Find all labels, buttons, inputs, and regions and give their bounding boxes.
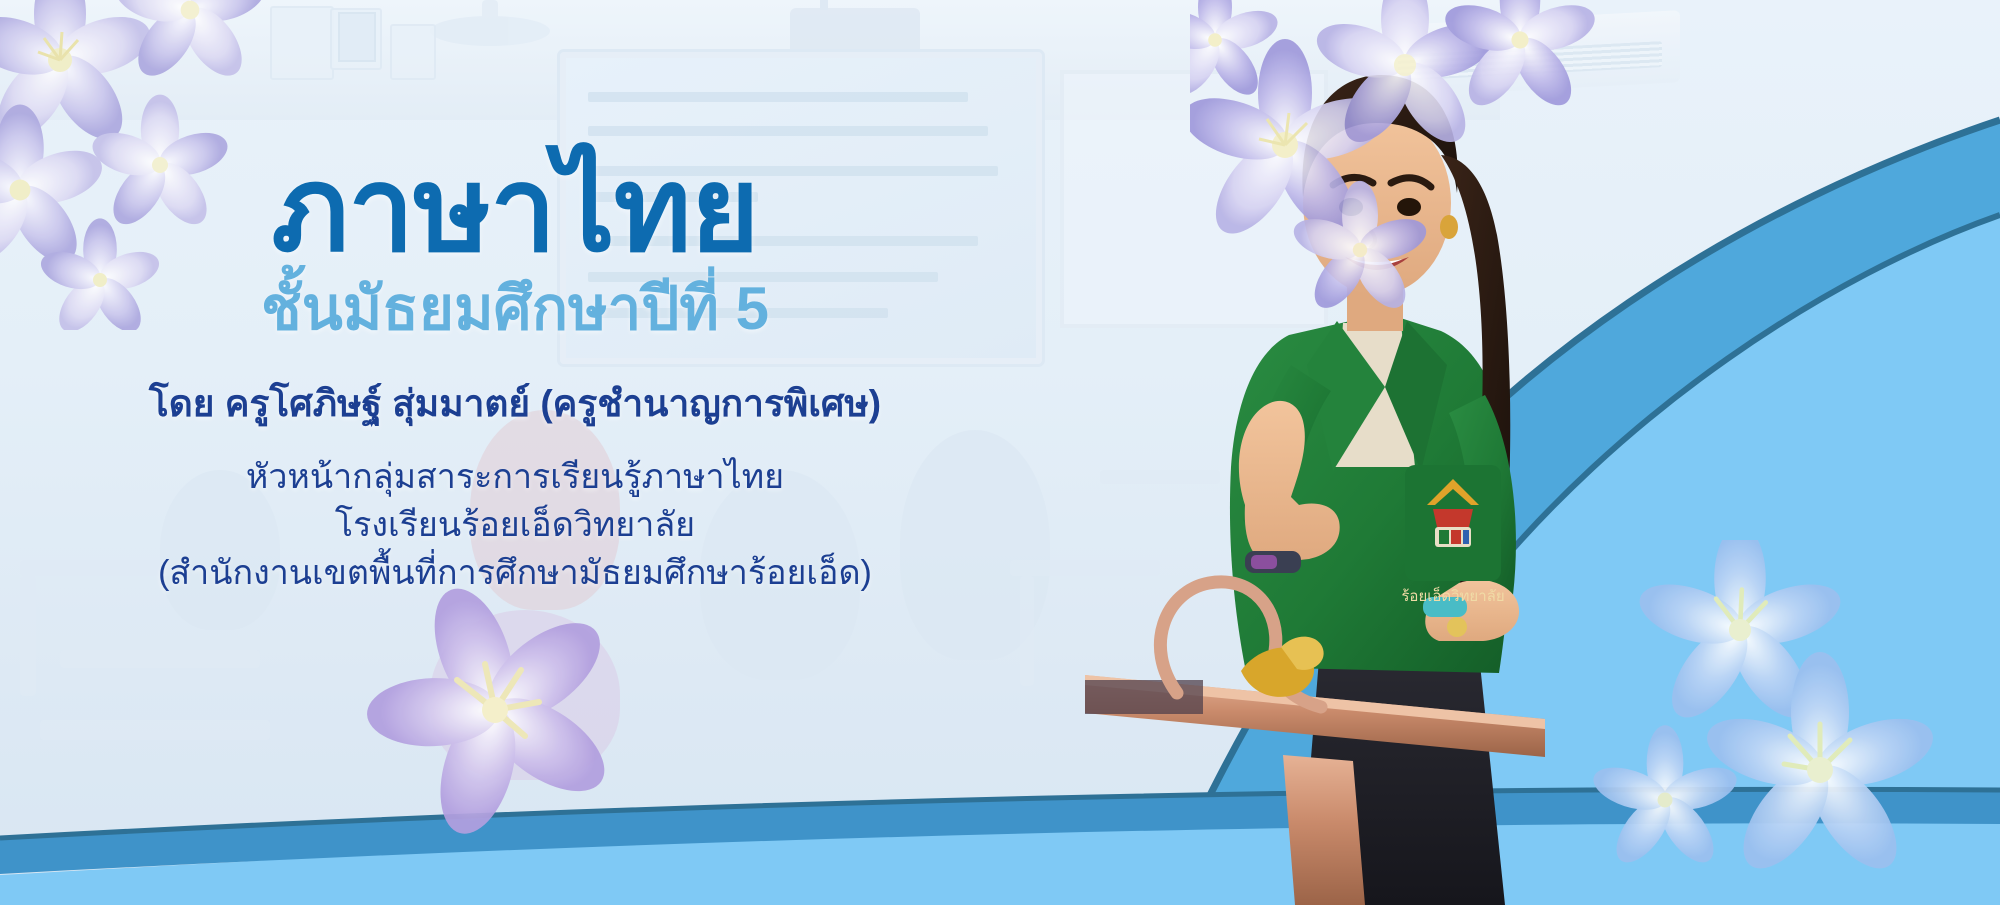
school-info-lines: หัวหน้ากลุ่มสาระการเรียนรู้ภาษาไทย โรงเร… [0, 453, 1030, 598]
ring [1447, 617, 1467, 637]
course-banner: ร้อยเอ็ดวิทยาลัย [0, 0, 2000, 905]
blazer-label: ร้อยเอ็ดวิทยาลัย [1401, 586, 1504, 605]
eye-right [1397, 198, 1421, 216]
school-info-line-1: หัวหน้ากลุ่มสาระการเรียนรู้ภาษาไทย [0, 453, 1030, 501]
teacher-illustration: ร้อยเอ็ดวิทยาลัย [1085, 35, 1645, 905]
podium-column [1283, 755, 1365, 905]
instructor-byline: โดย ครูโศภิษฐ์ สุ่มมาตย์ (ครูชำนาญการพิเ… [0, 382, 1030, 426]
page-title: ภาษาไทย [0, 150, 1030, 270]
school-info-line-2: โรงเรียนร้อยเอ็ดวิทยาลัย [0, 501, 1030, 549]
earring [1440, 215, 1458, 239]
grade-level-subtitle: ชั้นมัธยมศึกษาปีที่ 5 [0, 276, 1030, 342]
banner-text-block: ภาษาไทย ชั้นมัธยมศึกษาปีที่ 5 โดย ครูโศภ… [0, 150, 1030, 598]
eye-left [1339, 198, 1363, 216]
teacher-photo: ร้อยเอ็ดวิทยาลัย [1085, 35, 1645, 905]
watch-face [1251, 555, 1277, 569]
podium-shadow [1085, 680, 1203, 714]
school-info-line-3: (สำนักงานเขตพื้นที่การศึกษามัธยมศึกษาร้อ… [0, 549, 1030, 597]
